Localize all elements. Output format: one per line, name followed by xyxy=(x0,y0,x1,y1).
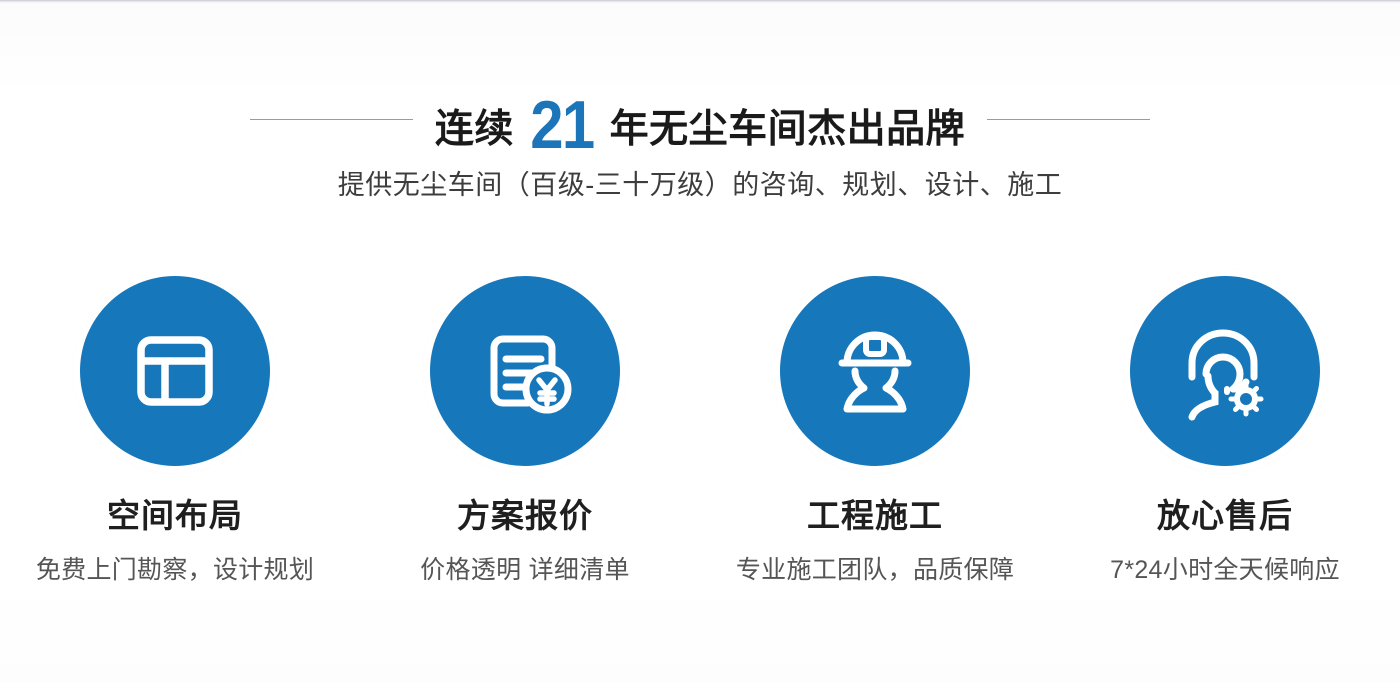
feature-desc: 价格透明 详细清单 xyxy=(420,550,630,586)
headline-divider-right xyxy=(987,119,1150,120)
feature-item-after-sales[interactable]: 放心售后 7*24小时全天候响应 xyxy=(1050,268,1400,586)
quotation-document-yuan-icon xyxy=(471,317,579,425)
feature-badge xyxy=(1130,276,1320,466)
headline-prefix: 连续 xyxy=(435,110,514,149)
headline-number: 21 xyxy=(530,91,593,159)
feature-title: 放心售后 xyxy=(1157,498,1293,534)
feature-item-construction[interactable]: 工程施工 专业施工团队，品质保障 xyxy=(700,268,1050,586)
top-edge-band xyxy=(0,0,1400,3)
headline: 连续 21 年无尘车间杰出品牌 xyxy=(0,88,1400,150)
feature-badge-wrap xyxy=(422,268,628,474)
feature-item-space-layout[interactable]: 空间布局 免费上门勘察，设计规划 xyxy=(0,268,350,586)
feature-badge-wrap xyxy=(1122,268,1328,474)
feature-desc: 专业施工团队，品质保障 xyxy=(736,550,1014,586)
feature-desc: 免费上门勘察，设计规划 xyxy=(36,550,314,586)
feature-title: 空间布局 xyxy=(107,498,243,534)
feature-row: 空间布局 免费上门勘察，设计规划 xyxy=(0,268,1400,586)
headline-suffix: 年无尘车间杰出品牌 xyxy=(610,110,966,149)
feature-badge-wrap xyxy=(772,268,978,474)
feature-title: 方案报价 xyxy=(457,498,593,534)
feature-title: 工程施工 xyxy=(807,498,943,534)
feature-badge-wrap xyxy=(72,268,278,474)
subtitle: 提供无尘车间（百级-三十万级）的咨询、规划、设计、施工 xyxy=(0,163,1400,202)
feature-desc: 7*24小时全天候响应 xyxy=(1110,550,1340,586)
construction-worker-helmet-icon xyxy=(822,318,928,424)
feature-badge xyxy=(430,276,620,466)
headline-divider-left xyxy=(250,119,413,120)
headset-support-gear-icon xyxy=(1170,316,1280,426)
feature-badge xyxy=(780,276,970,466)
layout-grid-icon xyxy=(123,319,227,423)
headline-text: 连续 21 年无尘车间杰出品牌 xyxy=(435,85,965,153)
feature-item-quotation[interactable]: 方案报价 价格透明 详细清单 xyxy=(350,268,700,586)
promo-banner: 连续 21 年无尘车间杰出品牌 提供无尘车间（百级-三十万级）的咨询、规划、设计… xyxy=(0,0,1400,682)
feature-badge xyxy=(80,276,270,466)
